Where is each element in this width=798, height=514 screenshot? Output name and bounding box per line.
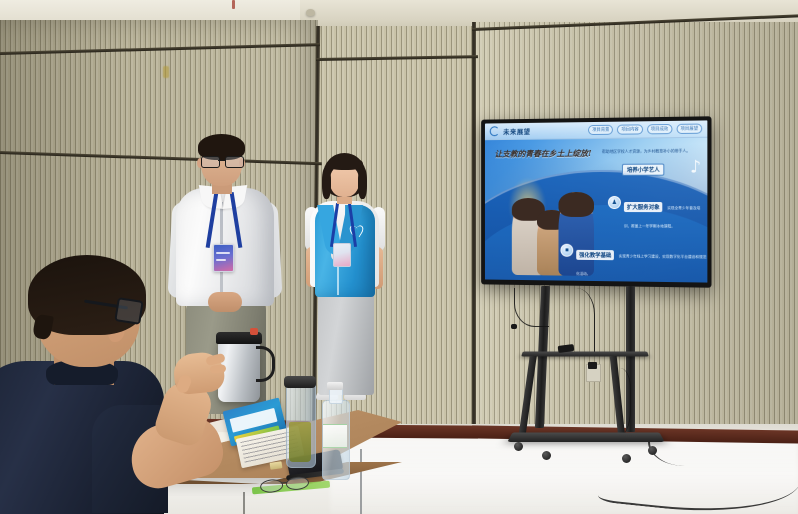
tumbler-lid[interactable]	[284, 376, 316, 388]
topbar-spacer	[534, 130, 584, 131]
screenshot-scene: 未来展望 项目背景 项目内容 项目成效 项目展望 03:49 让支教的青春在乡土…	[0, 0, 798, 514]
hair-bangs	[327, 157, 363, 170]
sweatpants	[318, 291, 374, 395]
stand-base	[507, 432, 664, 442]
standing-woman-volunteer	[302, 155, 388, 403]
brand-logo-icon	[490, 126, 500, 136]
feature-body: 强化教学基础 实现青少年线上学习建设，实现数字化平台建设和规范化活动。	[576, 244, 707, 282]
eyeglasses	[114, 297, 143, 325]
slide-highlight-chip[interactable]: 培养小学艺人	[622, 164, 665, 176]
display-cable	[596, 368, 631, 438]
bottle-neck	[329, 388, 343, 404]
glasses-bridge	[218, 160, 225, 161]
person-icon: ♟	[608, 196, 621, 209]
nav-pill-2[interactable]: 项目内容	[617, 124, 642, 134]
nav-pill-3[interactable]: 项目成效	[647, 124, 673, 134]
caster-wheel	[542, 451, 551, 460]
bottle-cap[interactable]	[327, 382, 343, 390]
thermos-button[interactable]	[250, 328, 258, 335]
feature-title: 扩大服务对象	[624, 202, 663, 212]
sprinkler-icon	[306, 9, 315, 16]
music-note-icon: ♪	[690, 159, 701, 176]
feature-title: 强化教学基础	[576, 250, 614, 260]
seated-man	[0, 255, 240, 514]
stand-shelf	[521, 352, 649, 357]
cable-connector	[511, 324, 517, 329]
slide-lead-text: 帮助地区学校人才资源，为乡村教育补小的带手人。	[602, 149, 703, 156]
slide-feature-item: ♟ 扩大服务对象 实现全青少年普及培训，覆盖上一年学期本地课程。	[608, 196, 707, 233]
id-badge	[333, 243, 351, 267]
television-bezel: 未来展望 项目背景 项目内容 项目成效 项目展望 03:49 让支教的青春在乡土…	[481, 116, 711, 287]
bottle-label	[323, 424, 347, 448]
lens	[225, 156, 244, 168]
television-screen[interactable]: 未来展望 项目背景 项目内容 项目成效 项目展望 03:49 让支教的青春在乡土…	[485, 120, 707, 282]
slide-feature-item: ■ 强化教学基础 实现青少年线上学习建设，实现数字化平台建设和规范化活动。	[560, 244, 707, 282]
wall-scuff-mark	[163, 66, 169, 78]
hair-side	[322, 167, 331, 199]
eyeglasses	[201, 156, 243, 166]
caster-wheel	[622, 454, 631, 463]
tea-leaves	[289, 422, 311, 462]
caster-wheel	[648, 446, 657, 455]
slide-top-bar: 未来展望 项目背景 项目内容 项目成效 项目展望 03:49	[485, 120, 707, 140]
nav-pill-1[interactable]: 项目背景	[588, 125, 613, 135]
hair-side	[358, 167, 367, 199]
display-cable	[514, 288, 549, 327]
display-assembly: 未来展望 项目背景 项目内容 项目成效 项目展望 03:49 让支教的青春在乡土…	[470, 110, 720, 460]
brand-logo-text: 未来展望	[503, 126, 530, 136]
ceiling-marker	[232, 0, 235, 9]
feature-body: 扩大服务对象 实现全青少年普及培训，覆盖上一年学期本地课程。	[624, 196, 707, 233]
book-icon: ■	[560, 244, 573, 257]
caster-wheel	[514, 442, 523, 451]
slide-slogan: 让支教的青春在乡土上绽放!	[495, 148, 592, 160]
nav-pill-4[interactable]: 项目展望	[676, 124, 702, 134]
lens	[201, 156, 220, 168]
slide-slogan-text: 让支教的青春在乡土上绽放!	[495, 148, 592, 159]
